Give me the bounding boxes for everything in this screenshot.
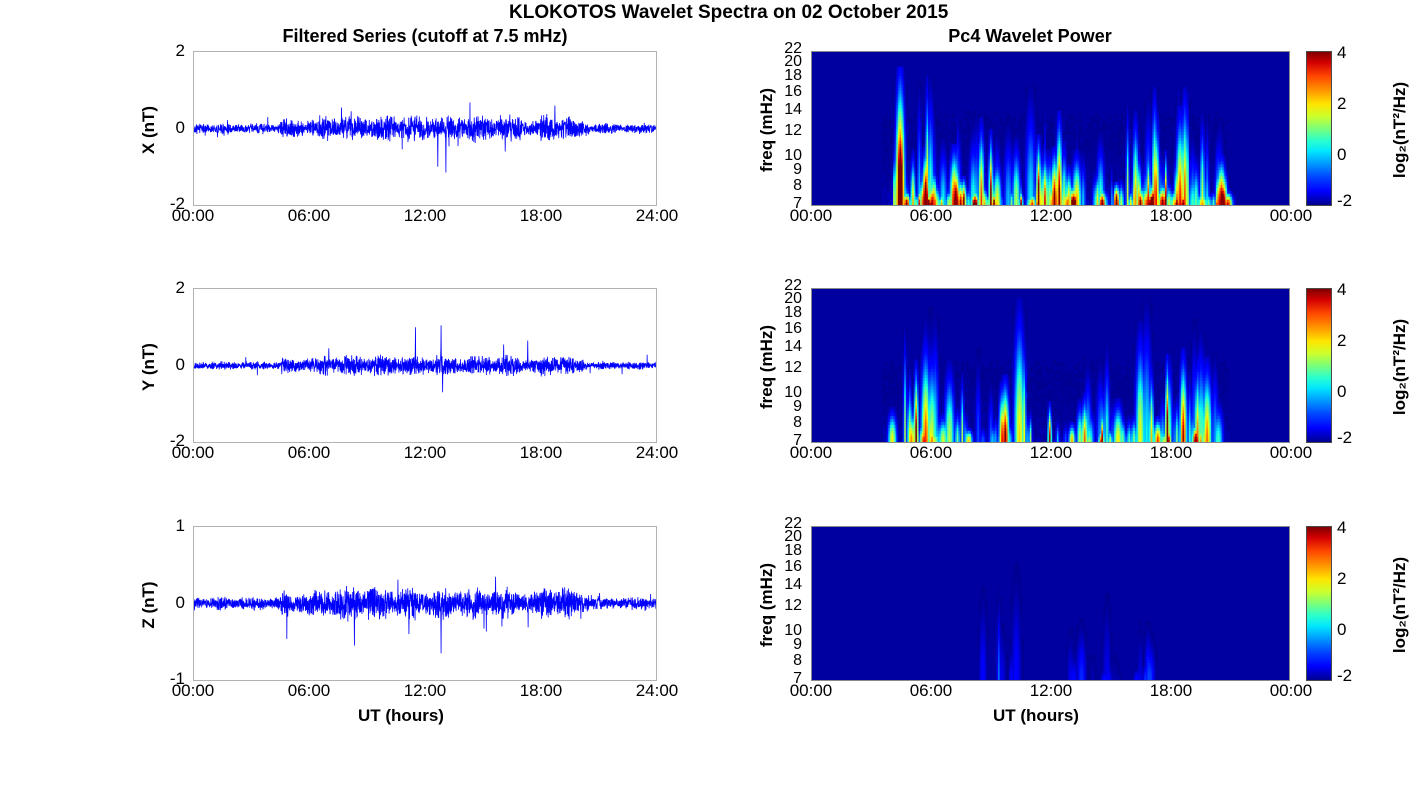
timeseries-line-y	[194, 289, 656, 442]
heat-xtick-x-2: 12:00	[1011, 206, 1091, 226]
colorbar-label-y: log₂(nT²/Hz)	[1390, 282, 1410, 452]
heat-xtick-z-3: 18:00	[1131, 681, 1211, 701]
xlabel-left: UT (hours)	[358, 706, 444, 726]
wavelet-power-image-y	[812, 289, 1289, 442]
freq-tick-16: 16	[760, 320, 802, 338]
figure-suptitle: KLOKOTOS Wavelet Spectra on 02 October 2…	[509, 2, 909, 24]
heat-xtick-z-4: 00:00	[1251, 681, 1331, 701]
ytick-x-mid: 0	[145, 118, 185, 138]
xtick-x-3: 18:00	[501, 206, 581, 226]
xtick-z-1: 06:00	[269, 681, 349, 701]
heat-xtick-x-4: 00:00	[1251, 206, 1331, 226]
freq-tick-14: 14	[760, 576, 802, 594]
heat-xtick-y-1: 06:00	[891, 443, 971, 463]
left-column-title: Filtered Series (cutoff at 7.5 mHz)	[225, 26, 625, 47]
freq-tick-8: 8	[760, 414, 802, 432]
freq-tick-12: 12	[760, 122, 802, 140]
heat-xtick-y-3: 18:00	[1131, 443, 1211, 463]
colorbar-x[interactable]	[1306, 51, 1332, 206]
timeseries-axes-z[interactable]	[193, 526, 657, 681]
xtick-z-0: 00:00	[153, 681, 233, 701]
cbtick-y-neg2: -2	[1337, 428, 1377, 448]
freq-tick-8: 8	[760, 177, 802, 195]
freq-tick-16: 16	[760, 558, 802, 576]
wavelet-power-image-z	[812, 527, 1289, 680]
heat-xtick-y-4: 00:00	[1251, 443, 1331, 463]
cbtick-x-0: 0	[1337, 145, 1377, 165]
freq-tick-16: 16	[760, 83, 802, 101]
xtick-x-4: 24:00	[617, 206, 697, 226]
xtick-y-3: 18:00	[501, 443, 581, 463]
wavelet-heatmap-x[interactable]	[811, 51, 1290, 206]
heat-xtick-x-3: 18:00	[1131, 206, 1211, 226]
heat-xtick-x-1: 06:00	[891, 206, 971, 226]
xtick-z-3: 18:00	[501, 681, 581, 701]
freq-tick-14: 14	[760, 101, 802, 119]
ytick-z-top: 1	[145, 516, 185, 536]
cbtick-z-2: 2	[1337, 569, 1377, 589]
ytick-z-mid: 0	[145, 593, 185, 613]
xtick-x-0: 00:00	[153, 206, 233, 226]
freq-tick-7: 7	[760, 195, 802, 213]
xtick-y-4: 24:00	[617, 443, 697, 463]
ytick-y-top: 2	[145, 278, 185, 298]
freq-tick-7: 7	[760, 432, 802, 450]
xlabel-right: UT (hours)	[993, 706, 1079, 726]
timeseries-axes-y[interactable]	[193, 288, 657, 443]
xtick-z-4: 24:00	[617, 681, 697, 701]
timeseries-line-x	[194, 52, 656, 205]
xtick-y-0: 00:00	[153, 443, 233, 463]
right-column-title: Pc4 Wavelet Power	[850, 26, 1210, 47]
colorbar-label-z: log₂(nT²/Hz)	[1390, 520, 1410, 690]
xtick-z-2: 12:00	[385, 681, 465, 701]
colorbar-z[interactable]	[1306, 526, 1332, 681]
timeseries-line-z	[194, 527, 656, 680]
freq-tick-8: 8	[760, 652, 802, 670]
cbtick-x-neg2: -2	[1337, 191, 1377, 211]
cbtick-z-neg2: -2	[1337, 666, 1377, 686]
cbtick-z-0: 0	[1337, 620, 1377, 640]
xtick-x-1: 06:00	[269, 206, 349, 226]
wavelet-power-image-x	[812, 52, 1289, 205]
heat-xtick-y-2: 12:00	[1011, 443, 1091, 463]
freq-tick-14: 14	[760, 338, 802, 356]
heat-xtick-z-1: 06:00	[891, 681, 971, 701]
cbtick-x-4: 4	[1337, 43, 1377, 63]
timeseries-axes-x[interactable]	[193, 51, 657, 206]
cbtick-y-4: 4	[1337, 280, 1377, 300]
cbtick-y-0: 0	[1337, 382, 1377, 402]
colorbar-label-x: log₂(nT²/Hz)	[1390, 45, 1410, 215]
freq-tick-12: 12	[760, 597, 802, 615]
xtick-x-2: 12:00	[385, 206, 465, 226]
xtick-y-1: 06:00	[269, 443, 349, 463]
wavelet-heatmap-z[interactable]	[811, 526, 1290, 681]
cbtick-y-2: 2	[1337, 331, 1377, 351]
freq-tick-7: 7	[760, 670, 802, 688]
heat-xtick-z-2: 12:00	[1011, 681, 1091, 701]
ytick-y-mid: 0	[145, 355, 185, 375]
wavelet-heatmap-y[interactable]	[811, 288, 1290, 443]
ytick-x-top: 2	[145, 41, 185, 61]
colorbar-y[interactable]	[1306, 288, 1332, 443]
cbtick-z-4: 4	[1337, 518, 1377, 538]
xtick-y-2: 12:00	[385, 443, 465, 463]
freq-tick-12: 12	[760, 359, 802, 377]
figure-canvas: KLOKOTOS Wavelet Spectra on 02 October 2…	[0, 0, 1418, 788]
cbtick-x-2: 2	[1337, 94, 1377, 114]
